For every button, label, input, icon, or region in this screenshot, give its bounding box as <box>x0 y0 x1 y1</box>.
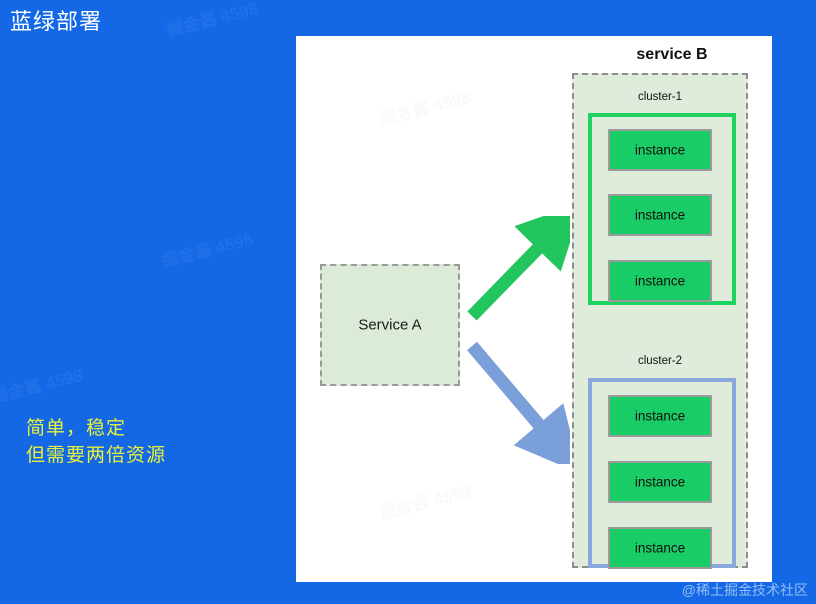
service-b-label: service B <box>572 46 772 64</box>
instance-box[interactable]: instance <box>608 129 712 171</box>
canvas-watermark: 掘金酱 4598 <box>376 83 473 130</box>
background-watermark: 掘金酱 4598 <box>0 361 85 408</box>
caption: 简单，稳定 但需要两倍资源 <box>26 415 166 469</box>
diagram-canvas: 掘金酱 4598 掘金酱 4598 Service A service B cl… <box>296 36 772 582</box>
instance-label: instance <box>610 541 710 556</box>
service-a-box[interactable]: Service A <box>320 264 460 386</box>
instance-box[interactable]: instance <box>608 260 712 302</box>
instance-label: instance <box>610 409 710 424</box>
arrow-to-cluster-1-icon <box>466 216 570 324</box>
cluster-2-box[interactable]: instance instance instance <box>588 378 736 568</box>
cluster-1-box[interactable]: instance instance instance <box>588 113 736 305</box>
instance-label: instance <box>610 475 710 490</box>
page-title: 蓝绿部署 <box>10 7 102 37</box>
canvas-watermark: 掘金酱 4598 <box>376 477 473 524</box>
instance-box[interactable]: instance <box>608 527 712 569</box>
instance-label: instance <box>610 274 710 289</box>
instance-box[interactable]: instance <box>608 395 712 437</box>
service-b-box[interactable]: cluster-1 instance instance instance clu… <box>572 73 748 568</box>
caption-line-1: 简单，稳定 <box>26 415 166 442</box>
cluster-2-label: cluster-2 <box>574 355 746 367</box>
cluster-1-label: cluster-1 <box>574 91 746 103</box>
background-watermark: 掘金酱 4598 <box>163 0 260 41</box>
instance-label: instance <box>610 208 710 223</box>
arrow-to-cluster-2-icon <box>466 336 570 464</box>
service-a-label: Service A <box>322 317 458 334</box>
instance-box[interactable]: instance <box>608 194 712 236</box>
corner-watermark: @稀土掘金技术社区 <box>682 580 808 600</box>
background-watermark: 掘金酱 4598 <box>158 225 255 272</box>
caption-line-2: 但需要两倍资源 <box>26 442 166 469</box>
instance-box[interactable]: instance <box>608 461 712 503</box>
instance-label: instance <box>610 143 710 158</box>
